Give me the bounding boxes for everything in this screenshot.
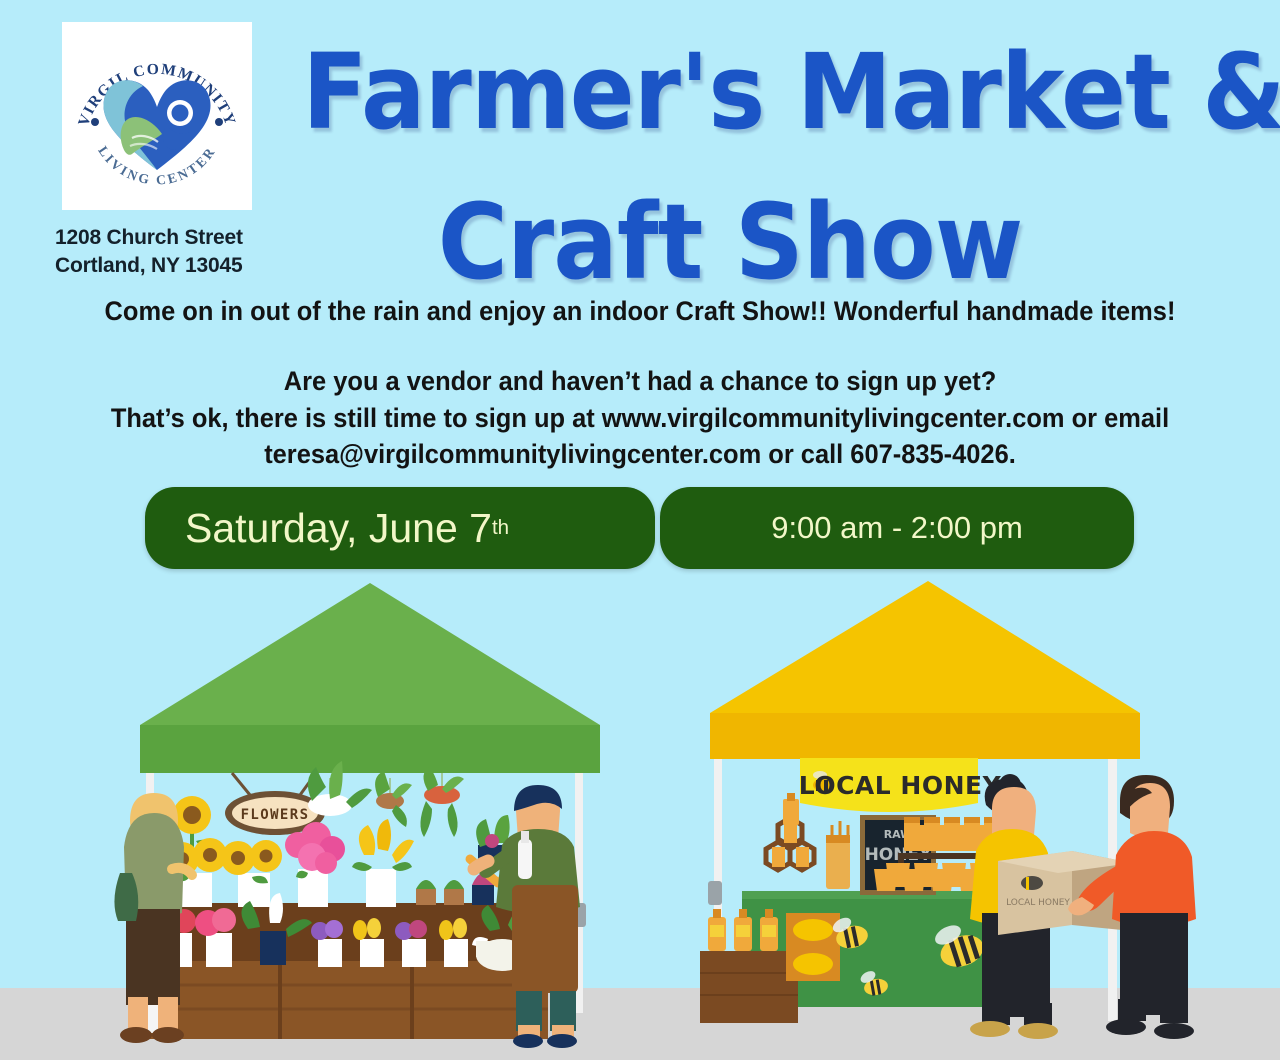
event-time-text: 9:00 am - 2:00 pm xyxy=(771,510,1023,546)
poster-root: VIRGIL COMMUNITY LIVING CENTER 1208 Chur… xyxy=(0,0,1280,1060)
vendor-line-1: Are you a vendor and haven’t had a chanc… xyxy=(26,363,1255,400)
tagline-text: Come on in out of the rain and enjoy an … xyxy=(26,296,1255,327)
tent-canopy-valance xyxy=(140,725,600,773)
flowers-sign-label: FLOWERS xyxy=(241,807,310,823)
honey-wooden-crate xyxy=(700,951,798,1023)
customer-man-figure xyxy=(1068,775,1196,1039)
local-honey-stall-illustration: LOCAL HONEY xyxy=(690,573,1200,1043)
title-line-1: Farmer's Market & xyxy=(302,18,1158,168)
event-date-text: Saturday, June 7 xyxy=(185,505,492,552)
page-title: Farmer's Market & Craft Show xyxy=(302,18,1158,318)
event-date-ordinal: th xyxy=(492,516,509,540)
event-date-badge: Saturday, June 7th xyxy=(145,487,655,569)
local-honey-banner-label: LOCAL HONEY xyxy=(799,771,1002,800)
vendor-signup-info: Are you a vendor and haven’t had a chanc… xyxy=(26,363,1255,473)
stacked-honey-tubs xyxy=(786,913,840,981)
box-label: LOCAL HONEY xyxy=(1006,898,1070,908)
event-time-badge: 9:00 am - 2:00 pm xyxy=(660,487,1134,569)
sunflower-bouquet-2 xyxy=(221,840,282,907)
potted-herbs xyxy=(416,873,494,905)
tent-canopy-roof xyxy=(140,583,600,725)
organization-logo: VIRGIL COMMUNITY LIVING CENTER xyxy=(62,22,252,210)
honey-dipper-jar xyxy=(826,821,850,889)
vendor-line-3: teresa@virgilcommunitylivingcenter.com o… xyxy=(26,436,1255,473)
honeycomb-display xyxy=(766,793,814,870)
local-honey-banner: LOCAL HONEY xyxy=(799,758,1002,812)
flower-market-stall-illustration: FLOWERS xyxy=(120,573,620,1043)
stall-table-front xyxy=(148,961,548,1039)
yellow-flower-bouquet xyxy=(352,819,414,907)
honey-tent-canopy-valance xyxy=(710,713,1140,759)
vendor-line-2: That’s ok, there is still time to sign u… xyxy=(26,400,1255,437)
pink-flower-bouquet xyxy=(285,822,345,907)
honey-tent-canopy-roof xyxy=(710,581,1140,713)
honey-bottles-crate xyxy=(708,909,778,951)
